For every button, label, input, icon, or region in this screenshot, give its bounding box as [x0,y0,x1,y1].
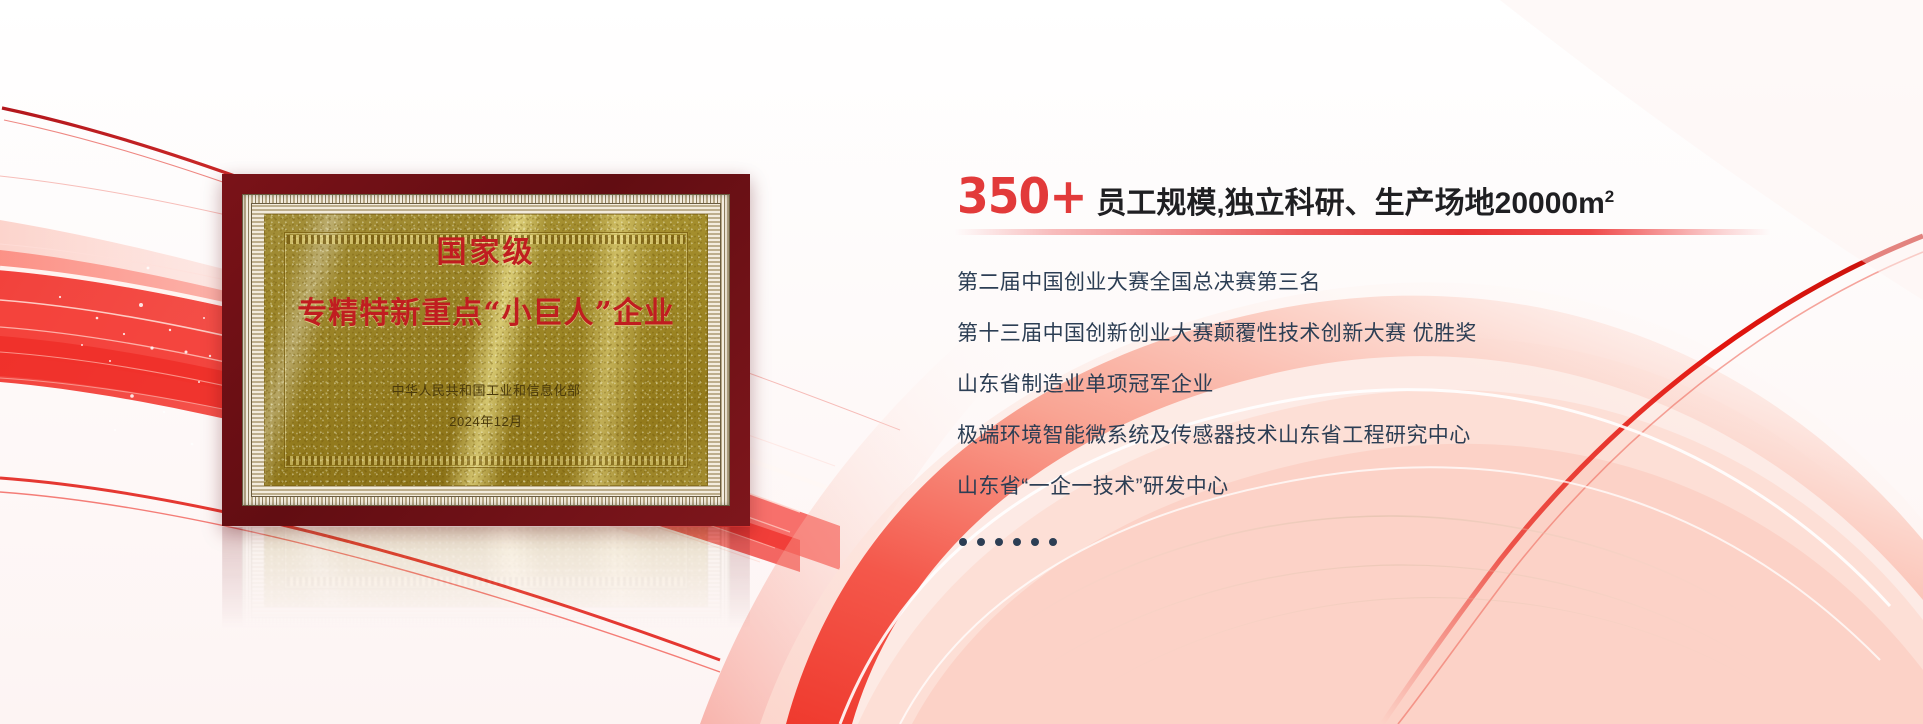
plaque-reflection [222,527,750,647]
list-item: 极端环境智能微系统及传感器技术山东省工程研究中心 [957,425,1837,446]
plaque-title-line1: 国家级 [437,227,536,271]
list-item: 山东省制造业单项冠军企业 [957,374,1837,395]
headline: 350+ 员工规模,独立科研、生产场地20000m2 [957,172,1614,221]
ellipsis-dots [959,538,1057,546]
list-item: 山东省“一企一技术”研发中心 [957,476,1837,497]
promo-banner: 国家级 专精特新重点“小巨人”企业 中华人民共和国工业和信息化部 2024年12… [0,0,1923,724]
plaque-date: 2024年12月 [449,411,522,430]
headline-superscript: 2 [1605,187,1614,206]
achievements-list: 第二届中国创业大赛全国总决赛第三名 第十三届中国创新创业大赛颠覆性技术创新大赛 … [957,272,1837,527]
plaque-title-line2: 专精特新重点“小巨人”企业 [297,288,675,332]
ellipsis-dot [1049,538,1057,546]
ellipsis-dot [1013,538,1021,546]
ellipsis-dot [995,538,1003,546]
headline-underline-rule [955,229,1770,235]
headline-text-body: 员工规模,独立科研、生产场地20000m [1096,187,1604,220]
content-column: 350+ 员工规模,独立科研、生产场地20000m2 第二届中国创业大赛全国总决… [955,0,1915,724]
headline-text: 员工规模,独立科研、生产场地20000m2 [1096,188,1614,219]
award-plaque: 国家级 专精特新重点“小巨人”企业 中华人民共和国工业和信息化部 2024年12… [222,174,750,526]
list-item: 第二届中国创业大赛全国总决赛第三名 [957,272,1837,293]
ellipsis-dot [977,538,985,546]
ellipsis-dot [959,538,967,546]
headline-number: 350+ [957,172,1087,221]
ellipsis-dot [1031,538,1039,546]
plaque-text-block: 国家级 专精特新重点“小巨人”企业 中华人民共和国工业和信息化部 2024年12… [222,174,750,526]
list-item: 第十三届中国创新创业大赛颠覆性技术创新大赛 优胜奖 [957,323,1837,344]
plaque-issuer: 中华人民共和国工业和信息化部 [391,380,580,399]
